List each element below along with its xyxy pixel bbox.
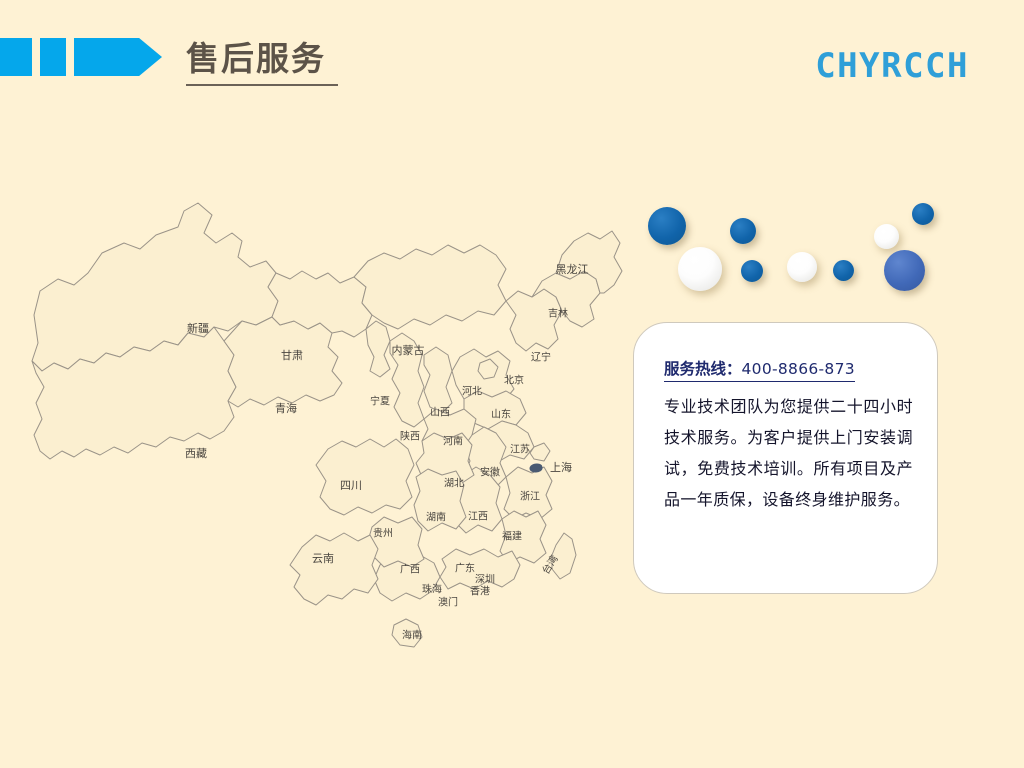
- map-label-hebei: 河北: [462, 383, 482, 398]
- map-label-qinghai: 青海: [275, 400, 297, 416]
- accent-bar-1: [0, 38, 32, 76]
- accent-arrow-shape: [74, 38, 162, 76]
- map-label-sichuan: 四川: [340, 477, 362, 493]
- map-label-shanxi: 山西: [430, 404, 450, 419]
- map-label-ningxia: 宁夏: [370, 393, 390, 408]
- map-label-hubei: 湖北: [444, 475, 464, 490]
- slide-root: 售后服务 CHYRCCH: [0, 0, 1024, 768]
- map-label-fujian: 福建: [502, 528, 522, 543]
- decorative-dot-6: [833, 260, 854, 281]
- map-label-xianggang: 香港: [470, 583, 490, 598]
- map-label-xizang: 西藏: [185, 445, 207, 461]
- map-label-guizhou: 贵州: [373, 525, 393, 540]
- service-description: 专业技术团队为您提供二十四小时技术服务。为客户提供上门安装调试，免费技术培训。所…: [664, 391, 913, 515]
- service-info-card-content: 服务热线：400-8866-873 专业技术团队为您提供二十四小时技术服务。为客…: [664, 357, 913, 515]
- map-label-guangdong: 广东: [455, 560, 475, 575]
- map-label-neimenggu: 内蒙古: [392, 342, 425, 358]
- china-map-svg: [28, 175, 628, 670]
- hotline-label: 服务热线：: [664, 360, 742, 378]
- hotline-line: 服务热线：400-8866-873: [664, 357, 855, 382]
- map-label-xinjiang: 新疆: [187, 320, 209, 336]
- map-label-hunan: 湖南: [426, 509, 446, 524]
- decorative-dot-8: [912, 203, 934, 225]
- map-label-anhui: 安徽: [480, 464, 500, 479]
- accent-bar-2: [40, 38, 66, 76]
- decorative-dot-9: [884, 250, 925, 291]
- map-label-jilin: 吉林: [548, 305, 568, 320]
- map-label-jiangxi: 江西: [468, 508, 488, 523]
- decorative-dots-cluster: [630, 190, 1000, 320]
- map-label-beijing: 北京: [504, 372, 524, 387]
- service-info-card: 服务热线：400-8866-873 专业技术团队为您提供二十四小时技术服务。为客…: [633, 322, 938, 594]
- map-label-zhejiang: 浙江: [520, 488, 540, 503]
- page-title: 售后服务: [186, 40, 326, 78]
- map-label-yunnan: 云南: [312, 550, 334, 566]
- brand-logo: CHYRCCH: [815, 46, 969, 86]
- map-label-shaanxi: 陕西: [400, 428, 420, 443]
- map-label-liaoning: 辽宁: [531, 349, 551, 364]
- map-label-shandong: 山东: [491, 406, 511, 421]
- province-outlines: [32, 203, 622, 647]
- hotline-number: 400-8866-873: [742, 360, 855, 378]
- map-label-henan: 河南: [443, 433, 463, 448]
- map-label-aomen: 澳门: [438, 594, 458, 609]
- decorative-dot-3: [730, 218, 756, 244]
- decorative-dot-2: [678, 247, 722, 291]
- map-label-jiangsu: 江苏: [510, 441, 530, 456]
- page-title-underline: [186, 84, 338, 86]
- decorative-dot-4: [741, 260, 763, 282]
- map-label-guangxi: 广西: [400, 561, 420, 576]
- decorative-dot-1: [648, 207, 686, 245]
- decorative-dot-5: [787, 252, 817, 282]
- map-label-gansu: 甘肃: [281, 347, 303, 363]
- china-map: 新疆 西藏 青海 甘肃 内蒙古 宁夏 陕西 四川 云南 贵州 广西 湖北 湖南 …: [28, 175, 628, 670]
- map-label-hainan: 海南: [402, 627, 422, 642]
- map-label-heilongjiang: 黑龙江: [556, 261, 589, 277]
- map-marker-shanghai: [530, 464, 543, 473]
- decorative-dot-7: [874, 224, 899, 249]
- map-label-shanghai: 上海: [550, 459, 572, 475]
